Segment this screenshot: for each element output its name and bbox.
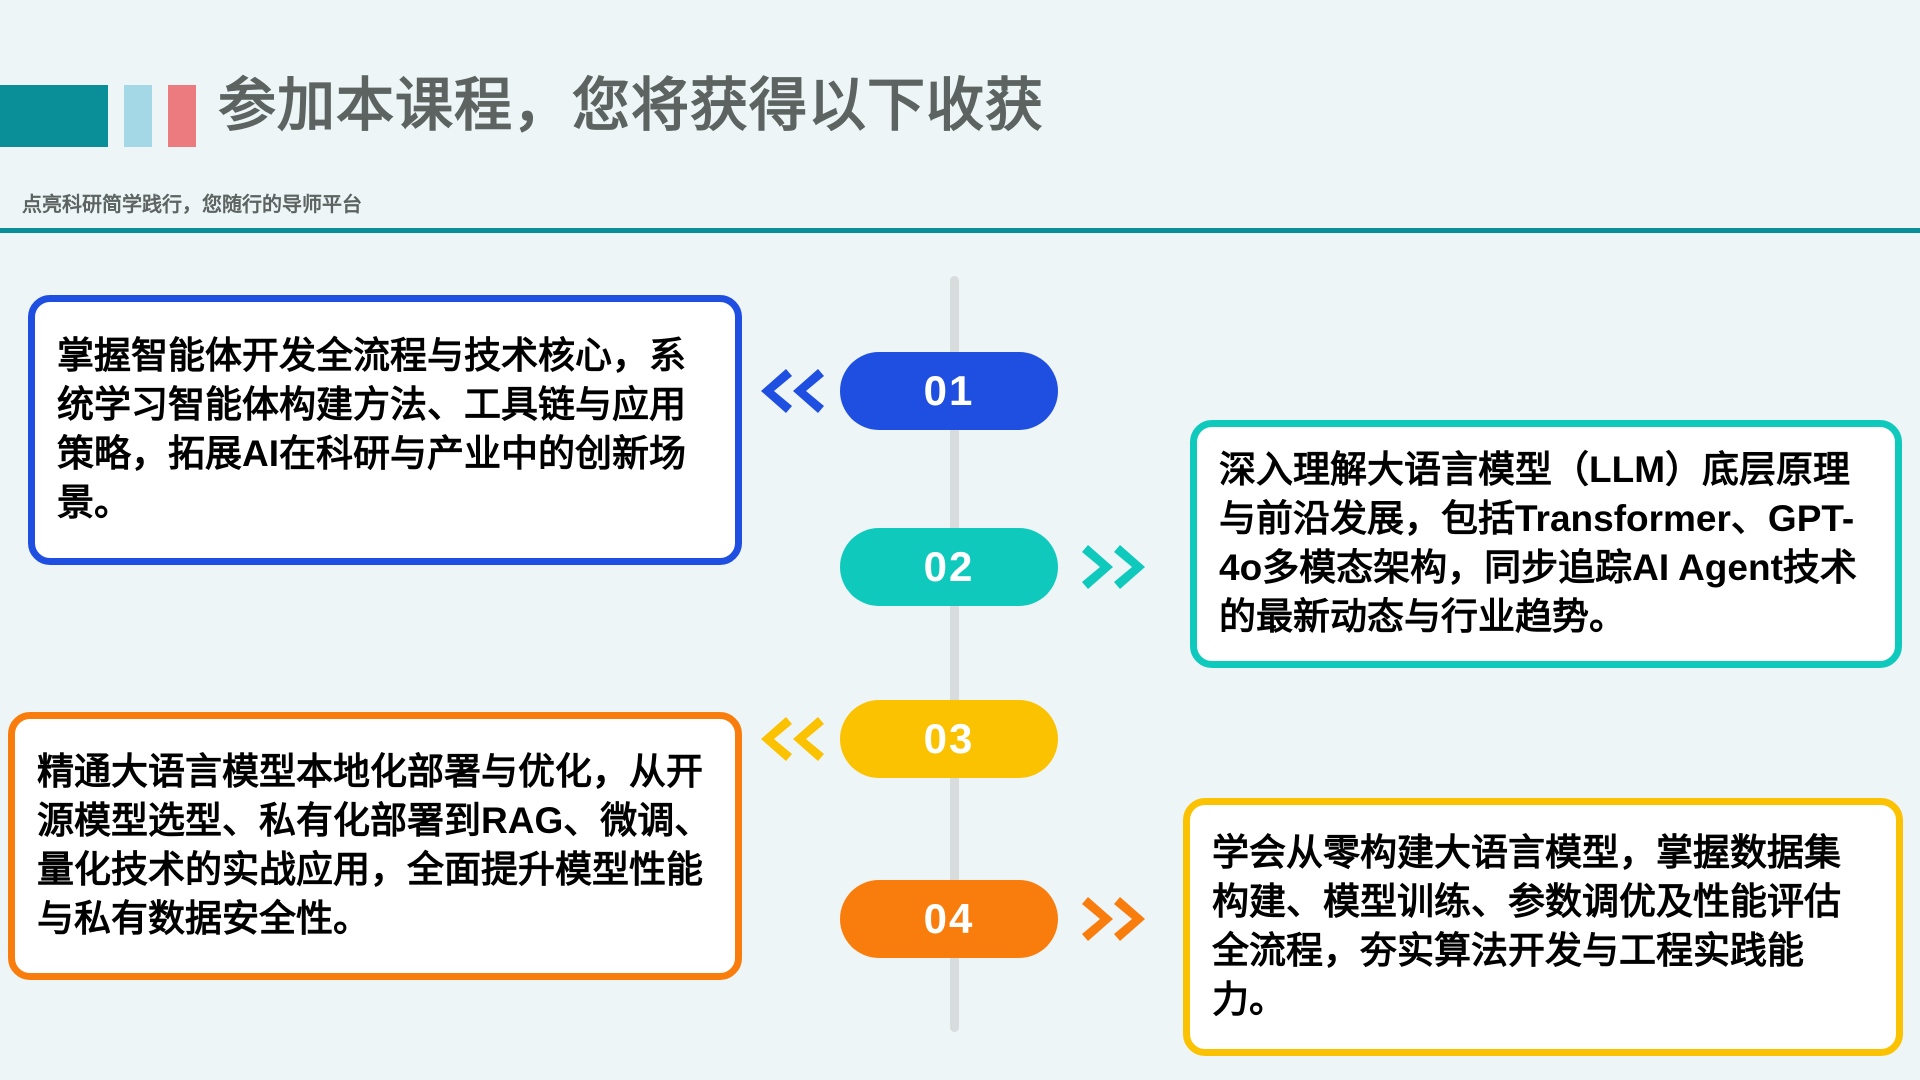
content-box-04-text: 学会从零构建大语言模型，掌握数据集构建、模型训练、参数调优及性能评估全流程，夯实… bbox=[1190, 829, 1896, 1024]
chevron-double-left-icon-03 bbox=[756, 714, 828, 764]
page-subtitle: 点亮科研简学践行，您随行的导师平台 bbox=[22, 188, 362, 217]
content-box-02: 深入理解大语言模型（LLM）底层原理与前沿发展，包括Transformer、GP… bbox=[1190, 420, 1902, 668]
pink-bar-icon bbox=[168, 85, 196, 147]
content-box-03: 精通大语言模型本地化部署与优化，从开源模型选型、私有化部署到RAG、微调、量化技… bbox=[8, 712, 742, 980]
page-title: 参加本课程，您将获得以下收获 bbox=[218, 74, 1044, 138]
step-badge-01[interactable]: 01 bbox=[840, 352, 1058, 430]
content-box-01-text: 掌握智能体开发全流程与技术核心，系统学习智能体构建方法、工具链与应用策略，拓展A… bbox=[35, 332, 735, 527]
step-badge-02[interactable]: 02 bbox=[840, 528, 1058, 606]
chevron-double-right-icon-04 bbox=[1078, 894, 1150, 944]
step-badge-03[interactable]: 03 bbox=[840, 700, 1058, 778]
step-badge-04[interactable]: 04 bbox=[840, 880, 1058, 958]
content-box-01: 掌握智能体开发全流程与技术核心，系统学习智能体构建方法、工具链与应用策略，拓展A… bbox=[28, 295, 742, 565]
chevron-double-right-icon-02 bbox=[1078, 542, 1150, 592]
content-box-02-text: 深入理解大语言模型（LLM）底层原理与前沿发展，包括Transformer、GP… bbox=[1197, 446, 1895, 641]
light-blue-bar-icon bbox=[124, 85, 152, 147]
content-box-03-text: 精通大语言模型本地化部署与优化，从开源模型选型、私有化部署到RAG、微调、量化技… bbox=[15, 748, 735, 943]
content-box-04: 学会从零构建大语言模型，掌握数据集构建、模型训练、参数调优及性能评估全流程，夯实… bbox=[1183, 798, 1903, 1056]
chevron-double-left-icon-01 bbox=[756, 366, 828, 416]
teal-square-icon bbox=[0, 85, 108, 147]
page-header: 参加本课程，您将获得以下收获 点亮科研简学践行，您随行的导师平台 bbox=[0, 0, 1920, 232]
header-divider bbox=[0, 228, 1920, 233]
